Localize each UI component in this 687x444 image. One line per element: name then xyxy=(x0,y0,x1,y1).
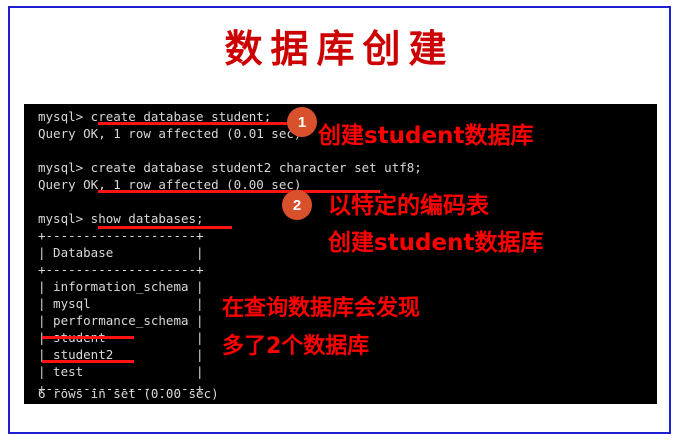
terminal-line: | Database | xyxy=(38,244,204,262)
callout-badge-1: 1 xyxy=(287,107,317,137)
terminal-line: | mysql | xyxy=(38,295,204,313)
terminal-line: mysql> create database student2 characte… xyxy=(38,159,422,177)
terminal-line: | performance_schema | xyxy=(38,312,204,330)
annotation-text-1: 创建student数据库 xyxy=(318,116,534,150)
annotation-text-4: 在查询数据库会发现 xyxy=(222,290,420,322)
terminal-line: Query OK, 1 row affected (0.01 sec) xyxy=(38,125,301,143)
underline-create-student xyxy=(98,122,293,125)
slide-frame: 数据库创建 mysql> create database student; Qu… xyxy=(8,6,671,434)
annotation-text-3: 创建student数据库 xyxy=(328,223,544,257)
annotation-text-5: 多了2个数据库 xyxy=(222,328,369,360)
annotation-text-2: 以特定的编码表 xyxy=(328,186,489,220)
underline-row-student2 xyxy=(42,360,134,363)
terminal-line: | test | xyxy=(38,363,204,381)
page-title: 数据库创建 xyxy=(10,18,669,73)
underline-show-databases xyxy=(98,226,232,229)
underline-row-student xyxy=(42,336,134,339)
terminal-line: | information_schema | xyxy=(38,278,204,296)
terminal-line: mysql> show databases; xyxy=(38,210,204,228)
terminal-line: +--------------------+ xyxy=(38,261,204,279)
screenshot-root: 数据库创建 mysql> create database student; Qu… xyxy=(0,0,687,444)
terminal-line: +--------------------+ xyxy=(38,227,204,245)
callout-badge-2: 2 xyxy=(282,190,312,220)
terminal-line: 6 rows in set (0.00 sec) xyxy=(38,386,219,401)
